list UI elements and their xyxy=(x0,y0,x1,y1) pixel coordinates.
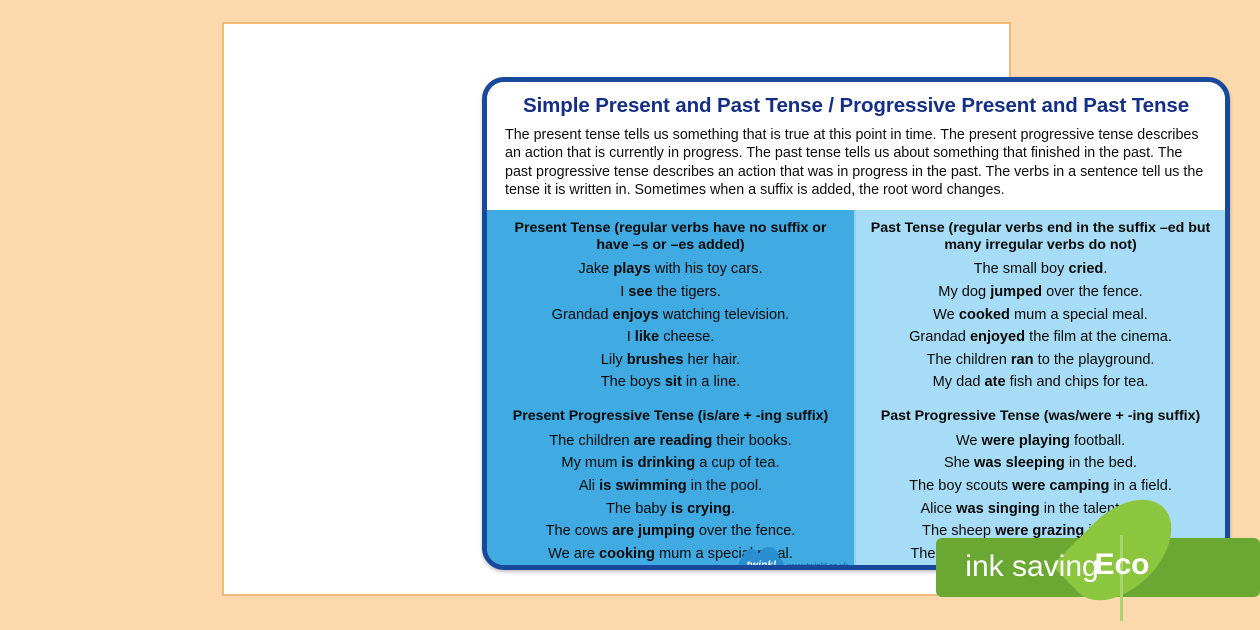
example-sentence: I like cheese. xyxy=(499,326,842,349)
sentence-suffix: her hair. xyxy=(683,352,740,368)
sentence-prefix: The small boy xyxy=(974,261,1069,277)
highlighted-verb: were playing xyxy=(982,433,1070,449)
sentence-prefix: The children xyxy=(927,352,1011,368)
sentence-prefix: She xyxy=(944,455,974,471)
example-sentence: The cows are jumping over the fence. xyxy=(499,520,842,543)
eco-word: Eco xyxy=(1090,547,1154,583)
sentence-suffix: mum a special meal. xyxy=(1010,307,1148,323)
sentence-prefix: Grandad xyxy=(909,329,970,345)
example-sentence: The baby is crying. xyxy=(499,498,842,521)
example-sentence: The boys sit in a line. xyxy=(499,371,842,394)
highlighted-verb: was sleeping xyxy=(974,455,1065,471)
sentence-prefix: My dog xyxy=(938,284,990,300)
sentence-prefix: We xyxy=(956,433,982,449)
example-sentence: My dad ate fish and chips for tea. xyxy=(868,371,1213,394)
sentence-suffix: the film at the cinema. xyxy=(1025,329,1172,345)
sentence-suffix: cheese. xyxy=(659,329,714,345)
sentence-prefix: We are xyxy=(548,546,599,562)
sentence-suffix: their books. xyxy=(712,433,792,449)
section-heading: Present Progressive Tense (is/are + -ing… xyxy=(499,408,842,425)
example-sentence: We were playing football. xyxy=(868,430,1213,453)
sentence-prefix: The baby xyxy=(606,501,671,517)
poster-header: Simple Present and Past Tense / Progress… xyxy=(487,82,1225,210)
sentence-prefix: My dad xyxy=(933,374,985,390)
page-title: Simple Present and Past Tense / Progress… xyxy=(503,95,1209,118)
sentence-suffix: in a line. xyxy=(682,374,740,390)
sentence-suffix: . xyxy=(1103,261,1107,277)
sentence-prefix: The boys xyxy=(601,374,665,390)
highlighted-verb: are jumping xyxy=(612,523,695,539)
highlighted-verb: are reading xyxy=(634,433,713,449)
highlighted-verb: ate xyxy=(985,374,1006,390)
twinkl-branding: twinkl www.twinkl.co.uk xyxy=(738,555,848,570)
sentence-suffix: to the playground. xyxy=(1034,352,1155,368)
ink-saving-eco-badge: ink saving Eco xyxy=(930,487,1260,630)
section-heading: Present Tense (regular verbs have no suf… xyxy=(499,220,842,254)
highlighted-verb: brushes xyxy=(627,352,684,368)
highlighted-verb: cooked xyxy=(959,307,1010,323)
sentence-prefix: I xyxy=(627,329,635,345)
highlighted-verb: sit xyxy=(665,374,682,390)
sentence-list: Jake plays with his toy cars.I see the t… xyxy=(499,258,842,394)
section-heading: Past Tense (regular verbs end in the suf… xyxy=(868,220,1213,254)
column-present: Present Tense (regular verbs have no suf… xyxy=(487,210,856,570)
sentence-suffix: in the pool. xyxy=(687,478,762,494)
twinkl-cloud-logo: twinkl xyxy=(738,555,784,570)
paper-sheet: Simple Present and Past Tense / Progress… xyxy=(222,22,1011,596)
highlighted-verb: enjoys xyxy=(613,307,659,323)
eco-label: ink saving xyxy=(952,549,1112,585)
sentence-suffix: football. xyxy=(1070,433,1125,449)
highlighted-verb: jumped xyxy=(990,284,1042,300)
sentence-suffix: over the fence. xyxy=(1042,284,1143,300)
example-sentence: Lily brushes her hair. xyxy=(499,349,842,372)
sentence-suffix: . xyxy=(731,501,735,517)
example-sentence: Grandad enjoyed the film at the cinema. xyxy=(868,326,1213,349)
sentence-list: The children are reading their books.My … xyxy=(499,430,842,566)
section-past-tense: Past Tense (regular verbs end in the suf… xyxy=(868,220,1213,394)
highlighted-verb: ran xyxy=(1011,352,1034,368)
sentence-suffix: over the fence. xyxy=(695,523,796,539)
sentence-prefix: Jake xyxy=(578,261,613,277)
sentence-prefix: Lily xyxy=(601,352,627,368)
example-sentence: She was sleeping in the bed. xyxy=(868,452,1213,475)
highlighted-verb: is swimming xyxy=(599,478,687,494)
intro-paragraph: The present tense tells us something tha… xyxy=(505,126,1207,200)
example-sentence: The small boy cried. xyxy=(868,258,1213,281)
highlighted-verb: enjoyed xyxy=(970,329,1025,345)
sentence-prefix: My mum xyxy=(561,455,621,471)
highlighted-verb: like xyxy=(635,329,659,345)
example-sentence: I see the tigers. xyxy=(499,281,842,304)
highlighted-verb: cooking xyxy=(599,546,655,562)
sentence-prefix: The cows xyxy=(546,523,613,539)
sentence-suffix: watching television. xyxy=(659,307,790,323)
sentence-suffix: the tigers. xyxy=(653,284,721,300)
highlighted-verb: is crying xyxy=(671,501,731,517)
sentence-prefix: Ali xyxy=(579,478,599,494)
example-sentence: The children are reading their books. xyxy=(499,430,842,453)
section-heading: Past Progressive Tense (was/were + -ing … xyxy=(868,408,1213,425)
example-sentence: My mum is drinking a cup of tea. xyxy=(499,452,842,475)
section-present-progressive: Present Progressive Tense (is/are + -ing… xyxy=(499,408,842,565)
sentence-suffix: with his toy cars. xyxy=(651,261,763,277)
sentence-prefix: The children xyxy=(549,433,633,449)
example-sentence: We cooked mum a special meal. xyxy=(868,304,1213,327)
twinkl-logo-text: twinkl xyxy=(738,560,784,570)
highlighted-verb: is drinking xyxy=(621,455,695,471)
sentence-prefix: We xyxy=(933,307,959,323)
section-present-tense: Present Tense (regular verbs have no suf… xyxy=(499,220,842,394)
sentence-prefix: Grandad xyxy=(552,307,613,323)
example-sentence: Grandad enjoys watching television. xyxy=(499,304,842,327)
screenshot-root: Simple Present and Past Tense / Progress… xyxy=(0,0,1260,630)
highlighted-verb: see xyxy=(628,284,652,300)
example-sentence: The children ran to the playground. xyxy=(868,349,1213,372)
twinkl-url: www.twinkl.co.uk xyxy=(787,561,848,570)
sentence-suffix: in the bed. xyxy=(1065,455,1137,471)
example-sentence: My dog jumped over the fence. xyxy=(868,281,1213,304)
highlighted-verb: plays xyxy=(613,261,650,277)
sentence-list: The small boy cried.My dog jumped over t… xyxy=(868,258,1213,394)
example-sentence: Ali is swimming in the pool. xyxy=(499,475,842,498)
highlighted-verb: cried xyxy=(1068,261,1103,277)
example-sentence: Jake plays with his toy cars. xyxy=(499,258,842,281)
sentence-suffix: fish and chips for tea. xyxy=(1006,374,1149,390)
sentence-suffix: a cup of tea. xyxy=(695,455,779,471)
